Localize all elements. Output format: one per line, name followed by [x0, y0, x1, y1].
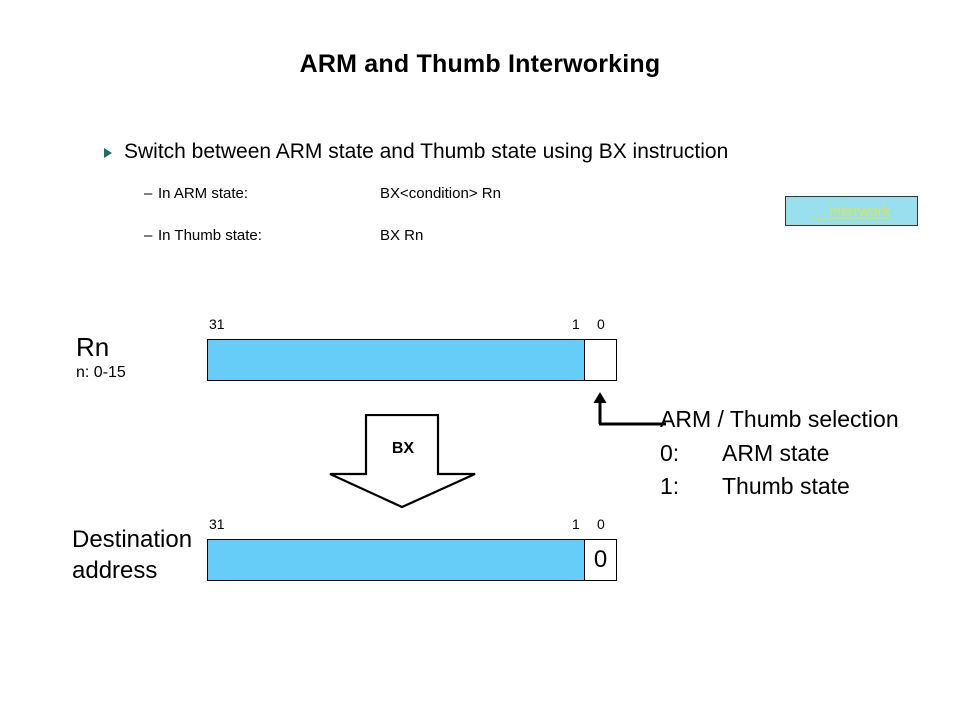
bx-down-arrow-icon: [328, 414, 478, 509]
destination-bit-label-mid: 1: [572, 516, 580, 532]
bullet-item-primary: Switch between ARM state and Thumb state…: [104, 139, 728, 165]
bullet-item-thumb-state: – In Thumb state: BX Rn: [144, 227, 423, 244]
register-rn-bit0-cell: [584, 340, 616, 380]
rn-bit-label-msb: 31: [209, 316, 225, 332]
bullet-thumb-state-value: BX Rn: [380, 227, 423, 244]
register-destination-field: [208, 540, 584, 580]
bx-arrow-label: BX: [328, 440, 478, 458]
dash-bullet-icon: –: [144, 185, 158, 202]
page-title: ARM and Thumb Interworking: [0, 50, 960, 79]
interwork-directive-box: __interwork: [785, 196, 918, 226]
register-rn-field: [208, 340, 584, 380]
callout-row-arm: 0: ARM state: [660, 440, 829, 467]
bit0-callout-arrow-icon: [588, 390, 668, 426]
destination-bit-label-lsb: 0: [597, 516, 605, 532]
callout-row-arm-key: 0:: [660, 440, 722, 467]
register-rn-subtitle: n: 0-15: [76, 364, 126, 382]
rn-bit-label-lsb: 0: [597, 316, 605, 332]
register-destination-bar: 0: [207, 539, 617, 581]
register-rn-bar: [207, 339, 617, 381]
bullet-arm-state-label: In ARM state:: [158, 185, 380, 202]
callout-row-arm-value: ARM state: [722, 440, 829, 467]
bullet-arm-state-value: BX<condition> Rn: [380, 185, 501, 202]
destination-bit-label-msb: 31: [209, 516, 225, 532]
callout-row-thumb: 1: Thumb state: [660, 473, 850, 500]
register-destination-name-line1: Destination: [72, 526, 192, 554]
slide-canvas: ARM and Thumb Interworking Switch betwee…: [0, 0, 960, 720]
register-rn-name: Rn: [76, 332, 109, 363]
interwork-directive-label: __interwork: [813, 203, 891, 220]
register-destination-name-line2: address: [72, 557, 157, 585]
dash-bullet-icon: –: [144, 227, 158, 244]
callout-title: ARM / Thumb selection: [660, 406, 899, 433]
bullet-item-arm-state: – In ARM state: BX<condition> Rn: [144, 185, 501, 202]
rn-bit-label-mid: 1: [572, 316, 580, 332]
bullet-primary-text: Switch between ARM state and Thumb state…: [124, 139, 728, 165]
bullet-thumb-state-label: In Thumb state:: [158, 227, 380, 244]
callout-row-thumb-value: Thumb state: [722, 473, 850, 500]
callout-row-thumb-key: 1:: [660, 473, 722, 500]
register-destination-bit0-cell: 0: [584, 540, 616, 580]
triangle-bullet-icon: [104, 148, 112, 158]
